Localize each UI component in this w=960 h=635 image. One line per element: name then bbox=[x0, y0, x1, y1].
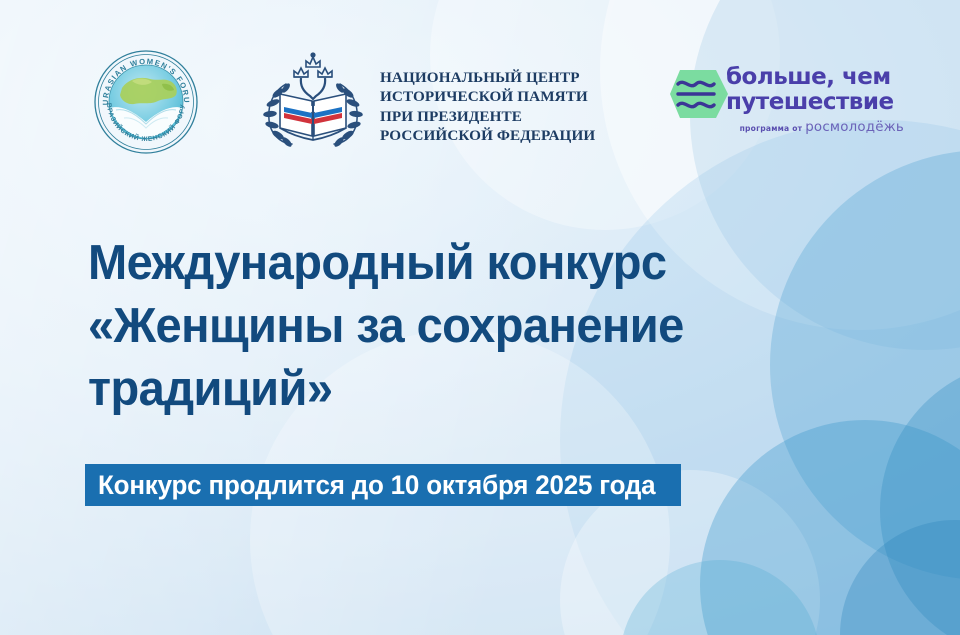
more-than-a-trip-name: больше, чем путешествие bbox=[726, 65, 894, 115]
deadline-banner-text: Конкурс продлится до 10 октября 2025 год… bbox=[98, 472, 655, 499]
eurasian-womens-forum-logo: EURASIAN WOMEN'S FORUM ЕВРАЗИЙСКИЙ ЖЕНСК… bbox=[92, 48, 200, 156]
national-centre-name: НАЦИОНАЛЬНЫЙ ЦЕНТР ИСТОРИЧЕСКОЙ ПАМЯТИ П… bbox=[380, 68, 615, 145]
national-centre-name-line: ИСТОРИЧЕСКОЙ ПАМЯТИ bbox=[380, 87, 615, 106]
program-prefix: программа от bbox=[740, 124, 803, 133]
rosmolodezh-brand: росмолодёжь bbox=[805, 120, 904, 135]
logo-row: EURASIAN WOMEN'S FORUM ЕВРАЗИЙСКИЙ ЖЕНСК… bbox=[0, 0, 960, 180]
waves-hexagon-icon bbox=[668, 68, 730, 120]
deadline-banner: Конкурс продлится до 10 октября 2025 год… bbox=[85, 464, 681, 506]
national-centre-name-line: РОССИЙСКОЙ ФЕДЕРАЦИИ bbox=[380, 126, 615, 145]
more-than-a-trip-name-line-1: больше, чем bbox=[726, 65, 894, 90]
page-title-line-2: «Женщины за сохранение bbox=[88, 295, 818, 358]
poster-root: EURASIAN WOMEN'S FORUM ЕВРАЗИЙСКИЙ ЖЕНСК… bbox=[0, 0, 960, 635]
more-than-a-trip-logo: больше, чем путешествие программа отросм… bbox=[668, 62, 903, 148]
page-title-line-3: традиций» bbox=[88, 358, 818, 421]
national-centre-name-line: НАЦИОНАЛЬНЫЙ ЦЕНТР bbox=[380, 68, 615, 87]
more-than-a-trip-subtitle: программа отросмолодёжь bbox=[714, 118, 904, 136]
national-centre-name-line: ПРИ ПРЕЗИДЕНТЕ bbox=[380, 107, 615, 126]
page-title-line-1: Международный конкурс bbox=[88, 232, 818, 295]
more-than-a-trip-name-line-2: путешествие bbox=[726, 90, 894, 115]
national-centre-emblem bbox=[258, 52, 368, 152]
page-title: Международный конкурс «Женщины за сохран… bbox=[88, 232, 818, 421]
